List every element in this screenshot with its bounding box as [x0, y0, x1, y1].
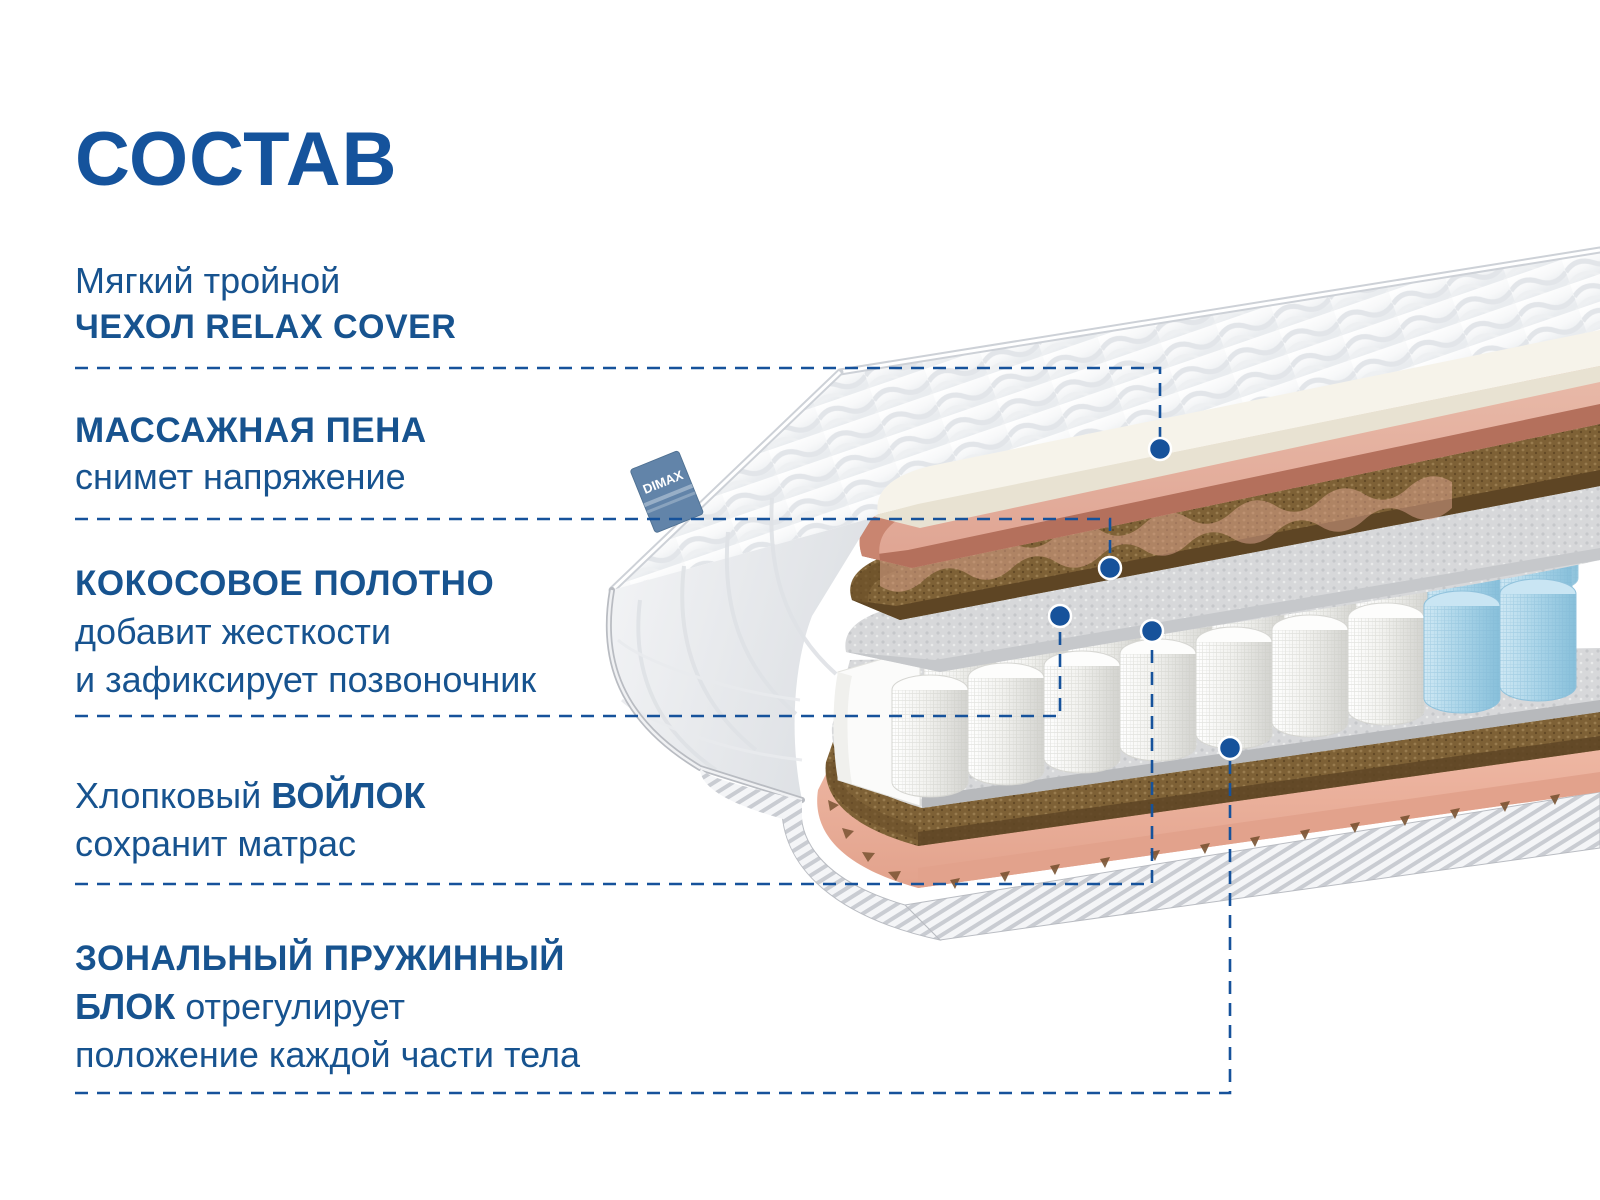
callout-line-mixed: БЛОК отрегулирует — [75, 986, 405, 1027]
page-title: СОСТАВ — [75, 122, 398, 198]
zone-spring-blue — [1500, 579, 1576, 701]
zone-spring-blue — [1424, 591, 1500, 713]
callout-line: и зафиксирует позвоночник — [75, 656, 536, 704]
infographic-canvas: DIMAX СОСТАВ Мягкий тройной — [0, 0, 1600, 1200]
callout-line: сохранит матрас — [75, 820, 425, 868]
callout-line: добавит жесткости — [75, 608, 536, 656]
callout-line: ЧЕХОЛ RELAX COVER — [75, 304, 456, 350]
callout-line: положение каждой части тела — [75, 1031, 580, 1079]
callout-coconut-cloth: КОКОСОВОЕ ПОЛОТНО добавит жесткости и за… — [75, 560, 536, 704]
callout-line: БЛОК отрегулирует — [75, 983, 580, 1031]
callout-cotton-felt: Хлопковый ВОЙЛОК сохранит матрас — [75, 772, 425, 868]
callout-line: снимет напряжение — [75, 454, 427, 500]
callout-massage-foam: МАССАЖНАЯ ПЕНА снимет напряжение — [75, 408, 427, 500]
callout-line-mixed: Хлопковый ВОЙЛОК — [75, 775, 425, 816]
callout-line: ЗОНАЛЬНЫЙ ПРУЖИННЫЙ — [75, 935, 580, 983]
callout-line: КОКОСОВОЕ ПОЛОТНО — [75, 560, 536, 608]
callout-line: Хлопковый ВОЙЛОК — [75, 772, 425, 820]
callout-line: Мягкий тройной — [75, 258, 456, 304]
callout-relax-cover: Мягкий тройной ЧЕХОЛ RELAX COVER — [75, 258, 456, 350]
callout-line: МАССАЖНАЯ ПЕНА — [75, 408, 427, 454]
callout-zonal-spring-block: ЗОНАЛЬНЫЙ ПРУЖИННЫЙ БЛОК отрегулирует по… — [75, 935, 580, 1079]
